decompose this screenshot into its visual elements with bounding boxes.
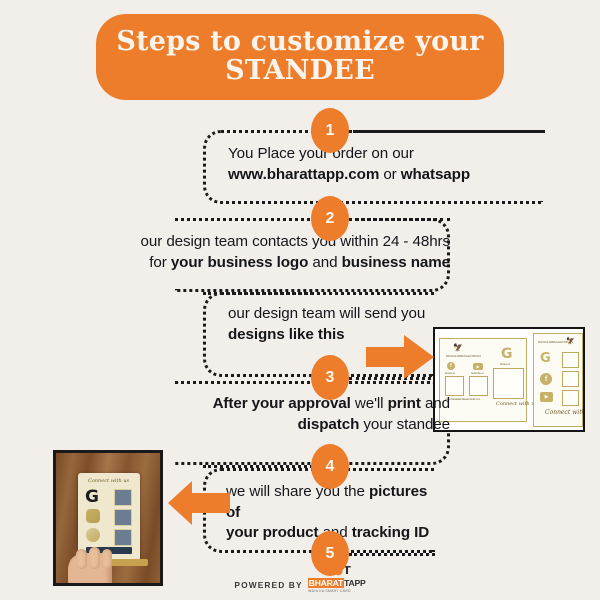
brand-logo: ●T BHARATTAPP INDIA KA SMART CARD xyxy=(308,578,366,593)
step-2-logo-phrase: your business logo xyxy=(171,254,308,271)
step-badge-5: 5 xyxy=(311,531,349,576)
step-4-text: After your approval we'll print and disp… xyxy=(120,394,450,435)
mockup-port-script: Connect with us xyxy=(545,409,585,416)
title-line-2: STANDEE xyxy=(225,55,375,86)
mockup-land-url: www.mahakalambikaelectricals.com xyxy=(445,398,480,401)
mockup-port-qr-3 xyxy=(562,390,579,406)
page-title: Steps to customize your STANDEE xyxy=(116,28,483,86)
step-1-text: You Place your order on our www.bharatta… xyxy=(228,144,548,185)
brand-tagline: INDIA KA SMART CARD xyxy=(308,589,351,593)
step-badge-3: 3 xyxy=(311,355,349,400)
youtube-icon: ▶ xyxy=(473,363,483,370)
step-5-tracking-phrase: tracking ID xyxy=(352,524,429,541)
google-g-icon-portrait: G xyxy=(540,352,551,365)
mockup-fb-caption: Review us xyxy=(445,372,455,375)
step-2-top-stub xyxy=(349,218,450,221)
step-2-text: our design team contacts you within 24 -… xyxy=(30,232,450,273)
step-3-designs-phrase: designs like this xyxy=(228,326,344,343)
mockup-port-qr-2 xyxy=(562,371,579,387)
mockup-portrait-panel: MAHAKALAMBIKA ELECTRICALS 🦅 G f ▶ Connec… xyxy=(533,333,583,427)
powered-by-label: POWERED BY xyxy=(234,580,302,590)
step-4-dispatch-word: dispatch xyxy=(298,416,360,433)
mockup-port-qr-1 xyxy=(562,352,579,368)
step-1-conjunction: or xyxy=(379,166,401,183)
mockup-land-script: Connect with us xyxy=(496,401,537,407)
arrow-left-icon xyxy=(168,480,230,526)
step-2-bottom-stub xyxy=(203,292,313,295)
standee-whatsapp-icon xyxy=(86,528,100,542)
standee-google-g-icon: G xyxy=(85,489,99,506)
standee-script-text: Connect with us xyxy=(88,478,129,484)
standee-qr-3 xyxy=(114,529,132,546)
step-badge-1: 1 xyxy=(311,108,349,153)
step-4-and: and xyxy=(421,395,450,412)
step-4-line-2-tail: your standee xyxy=(359,416,450,433)
standee-instagram-icon xyxy=(86,509,100,523)
step-5-bottom-stub xyxy=(349,553,435,556)
mockup-yt-caption: Subscribe us xyxy=(471,372,484,375)
title-banner: Steps to customize your STANDEE xyxy=(96,14,504,100)
step-3-line-1: our design team will send you xyxy=(228,305,425,322)
footer: POWERED BY ●T BHARATTAPP INDIA KA SMART … xyxy=(0,572,600,598)
mockup-landscape-panel: 🦅 MAHAKALAMBIKA ELECTRICALS f ▶ Review u… xyxy=(439,338,527,422)
finger-1 xyxy=(76,549,87,569)
step-4-print-word: print xyxy=(388,395,421,412)
brand-wordmark: BHARATTAPP xyxy=(308,578,366,588)
brand-part-2: TAPP xyxy=(344,578,365,588)
mockup-qr-frame-1 xyxy=(445,376,464,396)
product-photo-image: Connect with us G xyxy=(53,450,163,586)
youtube-icon-portrait: ▶ xyxy=(540,392,553,402)
finger-2 xyxy=(89,547,100,569)
step-2-name-phrase: business name xyxy=(342,254,450,271)
mockup-land-brand: MAHAKALAMBIKA ELECTRICALS xyxy=(446,355,481,358)
mockup-qr-frame-2 xyxy=(469,376,488,396)
step-5-product-phrase: your product xyxy=(226,524,318,541)
step-4-mid: we'll xyxy=(351,395,388,412)
step-1-top-stub xyxy=(349,130,545,133)
step-4-bottom-stub xyxy=(203,465,313,468)
step-2-prefix: for xyxy=(149,254,171,271)
facebook-icon-portrait: f xyxy=(540,373,552,385)
step-1-whatsapp: whatsapp xyxy=(401,166,470,183)
arrow-right-icon xyxy=(366,334,434,380)
eagle-logo-icon-portrait: 🦅 xyxy=(566,338,575,345)
brand-part-1: BHARAT xyxy=(308,578,344,588)
step-badge-4: 4 xyxy=(311,444,349,489)
step-2-line-1: our design team contacts you within 24 -… xyxy=(141,233,450,250)
facebook-icon: f xyxy=(447,362,455,370)
step-badge-2: 2 xyxy=(311,196,349,241)
design-mockup-image: 🦅 MAHAKALAMBIKA ELECTRICALS f ▶ Review u… xyxy=(433,327,585,432)
standee-panel: Connect with us G xyxy=(78,473,140,561)
infographic-canvas: Steps to customize your STANDEE 1 2 3 4 … xyxy=(0,0,600,600)
google-g-icon: G xyxy=(501,347,513,361)
step-5-prefix: we will share you the xyxy=(226,483,369,500)
standee-qr-1 xyxy=(114,489,132,506)
eagle-logo-icon: 🦅 xyxy=(453,344,463,352)
standee-qr-2 xyxy=(114,509,132,526)
step-2-conjunction: and xyxy=(308,254,341,271)
mockup-qr-frame-3 xyxy=(493,368,524,399)
finger-3 xyxy=(102,549,112,569)
title-line-1: Steps to customize your xyxy=(116,26,483,57)
step-1-website: www.bharattapp.com xyxy=(228,166,379,183)
mockup-google-caption: Review us xyxy=(500,363,510,366)
